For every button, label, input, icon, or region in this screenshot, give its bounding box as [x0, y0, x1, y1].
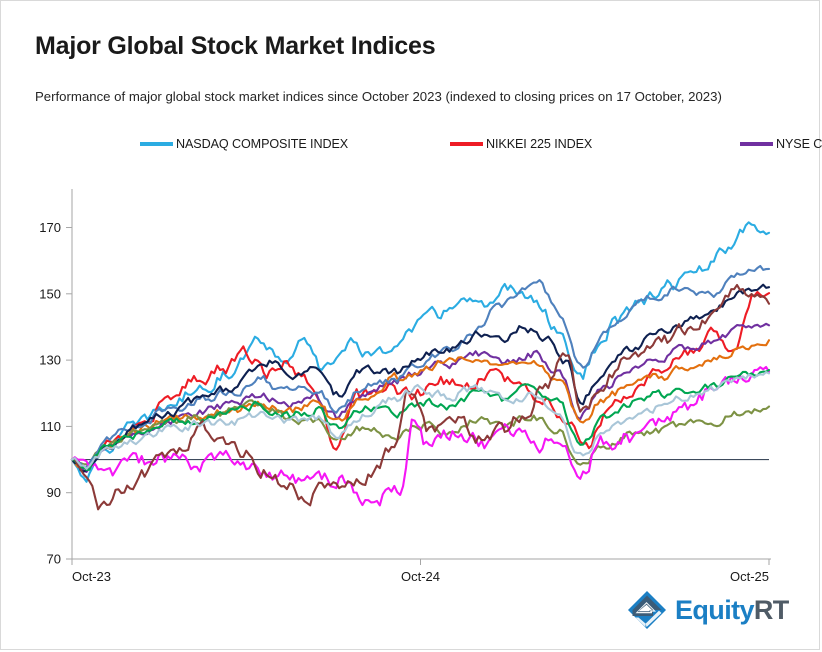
legend-item[interactable]: NIKKEI 225 INDEX [450, 135, 740, 152]
legend-item[interactable]: NYSE COMPOSITE INDEX [740, 135, 822, 152]
chart-card: Major Global Stock Market Indices Perfor… [0, 0, 820, 650]
series-line [72, 285, 769, 472]
logo-wordmark: EquityRT [675, 595, 789, 626]
legend-item[interactable]: NASDAQ COMPOSITE INDEX [140, 135, 450, 152]
series-line [72, 367, 769, 505]
legend-label: NIKKEI 225 INDEX [486, 137, 592, 151]
y-tick-label: 150 [39, 286, 61, 301]
series-line [72, 400, 769, 464]
legend-color-swatch [450, 142, 483, 146]
y-tick-label: 110 [40, 419, 61, 434]
x-tick-label: Oct-23 [72, 569, 111, 584]
series-line [72, 372, 769, 469]
series-line [72, 370, 769, 470]
legend-color-swatch [740, 142, 773, 146]
chart-legend: NASDAQ COMPOSITE INDEXNIKKEI 225 INDEXNY… [140, 135, 740, 152]
logo-text-equity: Equity [675, 595, 754, 625]
legend-label: NASDAQ COMPOSITE INDEX [176, 137, 348, 151]
series-line [72, 324, 769, 472]
legend-label: NYSE COMPOSITE INDEX [776, 137, 822, 151]
series-line [72, 222, 769, 481]
series-line [72, 266, 769, 468]
chart-subtitle: Performance of major global stock market… [35, 89, 722, 104]
series-line [72, 292, 769, 469]
series-line [72, 285, 769, 509]
y-tick-label: 170 [39, 220, 61, 235]
logo-text-rt: RT [754, 595, 789, 625]
axes-group: 7090110130150170Oct-23Oct-24Oct-25 [39, 189, 771, 584]
legend-color-swatch [140, 142, 173, 146]
y-tick-label: 70 [47, 552, 61, 567]
series-line [72, 340, 769, 469]
series-group [72, 222, 769, 509]
x-tick-label: Oct-25 [730, 569, 769, 584]
y-tick-label: 90 [47, 485, 61, 500]
equityrt-logo[interactable]: EquityRT [626, 587, 789, 633]
page-title: Major Global Stock Market Indices [35, 32, 435, 61]
x-tick-label: Oct-24 [401, 569, 440, 584]
y-tick-label: 130 [39, 353, 61, 368]
equityrt-diamond-logo [626, 589, 668, 631]
